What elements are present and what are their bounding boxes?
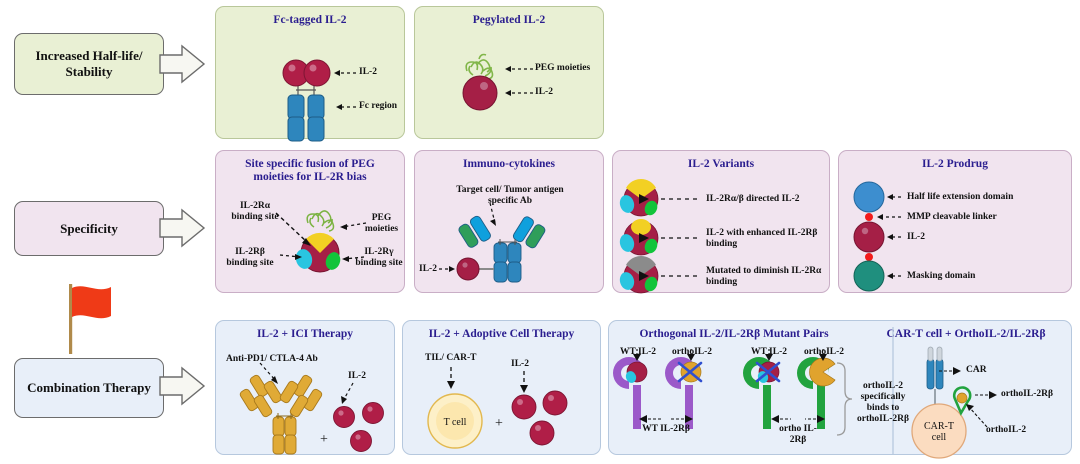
- panel-title: Pegylated IL-2: [415, 14, 603, 27]
- panel-il2-prodrug[interactable]: IL-2 Prodrug Half life extension domain …: [838, 150, 1072, 293]
- prodrug-label: Half life extension domain: [907, 192, 1013, 203]
- panel-title: IL-2 Prodrug: [839, 158, 1071, 171]
- label-car: CAR: [966, 365, 987, 376]
- panel-title: Orthogonal IL-2/IL-2Rβ Mutant Pairs: [609, 328, 859, 341]
- label-til-cart: TIL/ CAR-T: [425, 353, 476, 364]
- svg-text:CAR-T: CAR-T: [924, 421, 954, 432]
- category-label: Specificity: [60, 221, 118, 237]
- red-flag-icon: [55, 278, 115, 361]
- label-ortho-il2rb: orthoIL-2Rβ: [1001, 389, 1053, 400]
- prodrug-label: MMP cleavable linker: [907, 212, 997, 223]
- label-ortho-il2: orthoIL-2: [986, 425, 1026, 436]
- panel-il2-variants[interactable]: IL-2 Variants IL-2Rα/β directed IL-2 IL-: [612, 150, 830, 293]
- prodrug-label: IL-2: [907, 232, 925, 243]
- category-label: Increased Half-life/ Stability: [15, 48, 163, 80]
- panel-title: IL-2 + ICI Therapy: [216, 328, 394, 341]
- panel-orthogonal-mutant-pairs[interactable]: Orthogonal IL-2/IL-2Rβ Mutant Pairs CAR-…: [608, 320, 1072, 455]
- category-label: Combination Therapy: [27, 380, 151, 396]
- category-half-life[interactable]: Increased Half-life/ Stability: [14, 33, 164, 95]
- label-il2: IL-2: [535, 87, 553, 98]
- label-il2: IL-2: [359, 67, 377, 78]
- ligand-label: orthoIL-2: [666, 347, 718, 358]
- panel-title-cart: CAR-T cell + OrthoIL-2/IL-2Rβ: [859, 328, 1073, 341]
- panel-title: Fc-tagged IL-2: [216, 14, 404, 27]
- panel-site-specific-fusion[interactable]: Site specific fusion of PEG moieties for…: [215, 150, 405, 293]
- arrow-half-life: [160, 46, 208, 86]
- panel-title: Immuno-cytokines: [415, 158, 603, 171]
- receptor-label-ortho: ortho IL-2Rβ: [771, 424, 825, 446]
- panel-il2-ici-therapy[interactable]: IL-2 + ICI Therapy + Anti-PD1: [215, 320, 395, 455]
- label-fc-region: Fc region: [359, 101, 397, 112]
- variant-label: Mutated to diminish IL-2Rα binding: [706, 266, 824, 288]
- panel-adoptive-cell-therapy[interactable]: IL-2 + Adoptive Cell Therapy T cell + TI…: [402, 320, 601, 455]
- label-il2: IL-2: [348, 371, 366, 382]
- label-il2: IL-2: [419, 264, 437, 275]
- prodrug-label: Masking domain: [907, 271, 975, 282]
- svg-text:+: +: [495, 416, 503, 431]
- arrow-specificity: [160, 210, 208, 250]
- label-il2: IL-2: [511, 359, 529, 370]
- orthogonal-note: orthoIL-2 specifically binds to orthoIL-…: [852, 381, 914, 425]
- panel-fc-tagged-il2[interactable]: Fc-tagged IL-2 IL-2 Fc region: [215, 6, 405, 139]
- label-peg-moieties: PEG moieties: [359, 213, 404, 235]
- panel-title: Site specific fusion of PEG moieties for…: [216, 158, 404, 184]
- category-specificity[interactable]: Specificity: [14, 201, 164, 256]
- variant-label: IL-2 with enhanced IL-2Rβ binding: [706, 228, 824, 250]
- label-il2ra-binding-site: IL-2Rα binding site: [226, 201, 284, 223]
- label-anti-pd1-ctla4-ab: Anti-PD1/ CTLA-4 Ab: [226, 354, 318, 365]
- ligand-label: WT IL-2: [614, 347, 662, 358]
- label-il2rb-binding-site: IL-2Rβ binding site: [220, 247, 280, 269]
- panel-immuno-cytokines[interactable]: Immuno-cytokines Target cell/ Tumor anti…: [414, 150, 604, 293]
- variant-label: IL-2Rα/β directed IL-2: [706, 194, 828, 205]
- receptor-label-wt: WT IL-2Rβ: [641, 424, 691, 435]
- panel-pegylated-il2[interactable]: Pegylated IL-2 PEG moieties IL-2: [414, 6, 604, 139]
- ligand-label: WT IL-2: [745, 347, 793, 358]
- svg-text:T cell: T cell: [444, 417, 467, 428]
- ligand-label: orthoIL-2: [797, 347, 851, 358]
- category-combination[interactable]: Combination Therapy: [14, 358, 164, 418]
- label-peg-moieties: PEG moieties: [535, 63, 590, 74]
- panel-title: IL-2 + Adoptive Cell Therapy: [403, 328, 600, 341]
- label-il2rg-binding-site: IL-2Rγ binding site: [353, 247, 405, 269]
- svg-text:+: +: [320, 432, 328, 447]
- label-target-antibody: Target cell/ Tumor antigen specific Ab: [445, 185, 575, 207]
- arrow-combination: [160, 368, 208, 408]
- svg-text:cell: cell: [932, 432, 947, 443]
- panel-title: IL-2 Variants: [613, 158, 829, 171]
